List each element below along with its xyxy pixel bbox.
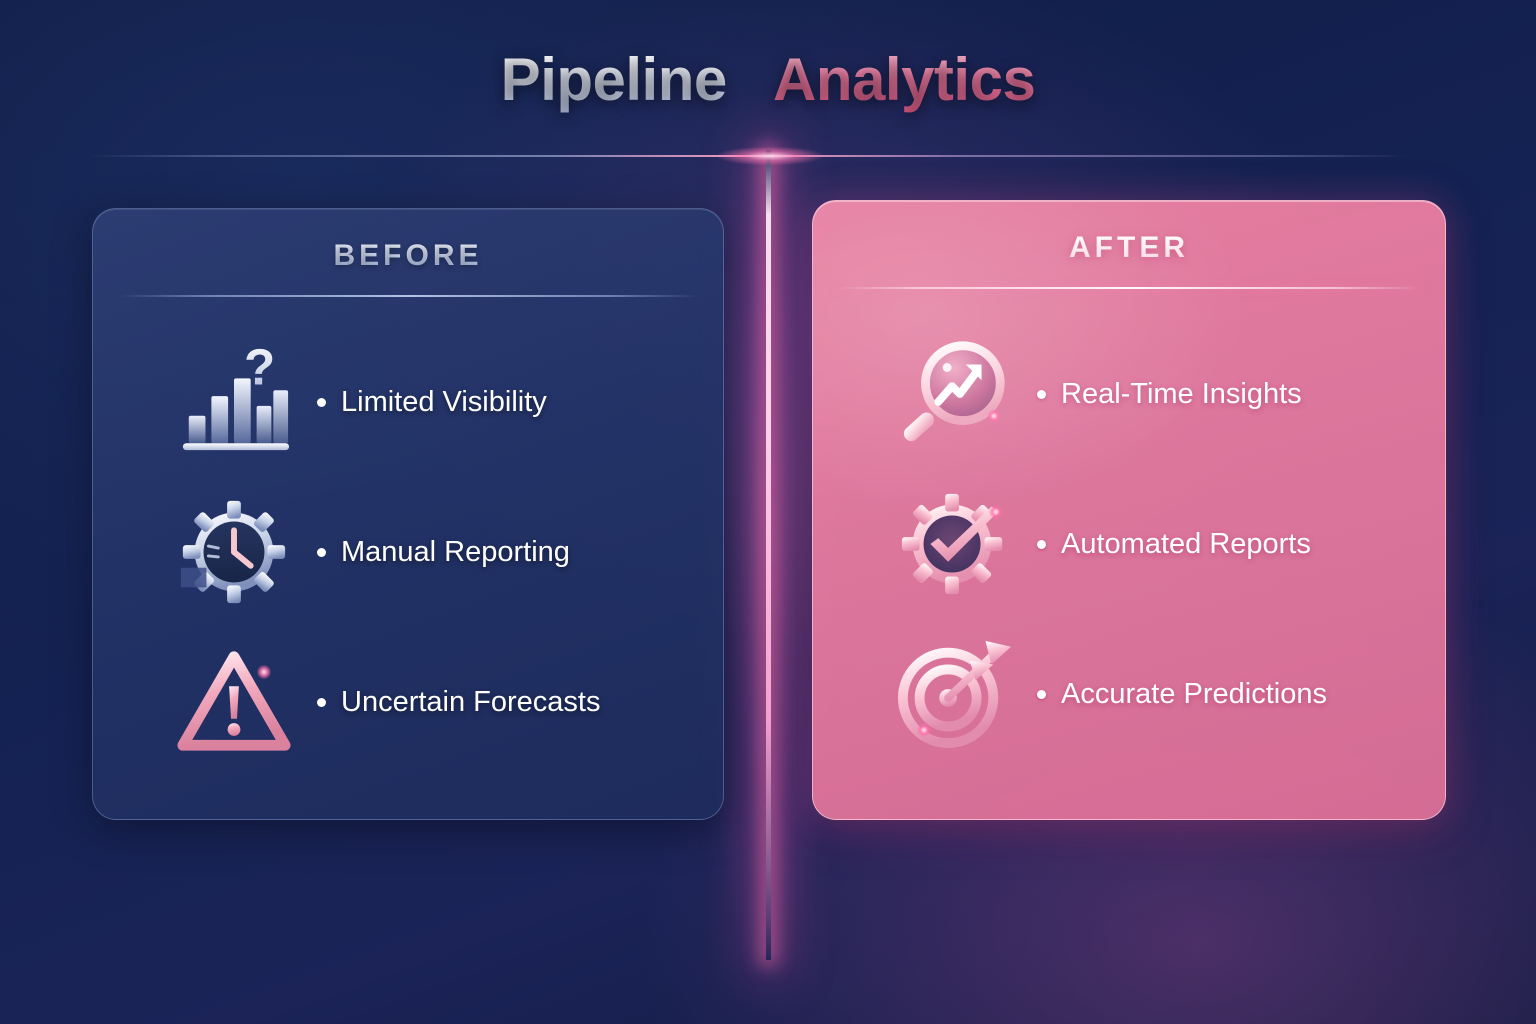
center-divider-beam [766, 150, 771, 960]
panel-after: AFTER [812, 200, 1446, 820]
list-item-label: Limited Visibility [341, 386, 547, 419]
slide-canvas: Pipeline Analytics BEFORE [0, 0, 1536, 1024]
list-item-text: Manual Reporting [317, 536, 570, 569]
svg-text:?: ? [244, 343, 275, 395]
list-item[interactable]: Automated Reports [813, 469, 1445, 619]
list-item-label: Uncertain Forecasts [341, 686, 601, 719]
bullet-icon [317, 398, 326, 407]
list-item-label: Automated Reports [1061, 528, 1311, 561]
list-item-text: Automated Reports [1037, 528, 1311, 561]
bullet-icon [317, 548, 326, 557]
page-title: Pipeline Analytics [0, 48, 1536, 111]
panel-after-separator [839, 287, 1419, 289]
list-item[interactable]: Manual Reporting [93, 477, 723, 627]
bullet-icon [1037, 540, 1046, 549]
list-item-label: Accurate Predictions [1061, 678, 1327, 711]
list-item[interactable]: Uncertain Forecasts [93, 627, 723, 777]
panel-after-heading: AFTER [813, 231, 1445, 265]
panel-before-list: ? Limited Visibility [93, 327, 723, 777]
list-item-label: Manual Reporting [341, 536, 570, 569]
panel-before-heading: BEFORE [93, 239, 723, 273]
title-space [743, 46, 759, 113]
list-item[interactable]: Accurate Predictions [813, 619, 1445, 769]
list-item-text: Limited Visibility [317, 386, 547, 419]
list-item[interactable]: ? Limited Visibility [93, 327, 723, 477]
panel-after-list: Real-Time Insights [813, 319, 1445, 769]
list-item-text: Accurate Predictions [1037, 678, 1327, 711]
bullet-icon [317, 698, 326, 707]
bullet-icon [1037, 690, 1046, 699]
list-item[interactable]: Real-Time Insights [813, 319, 1445, 469]
title-word-primary: Pipeline [501, 46, 727, 113]
list-item-text: Real-Time Insights [1037, 378, 1302, 411]
panel-before-separator [119, 295, 699, 297]
title-word-accent: Analytics [773, 46, 1035, 113]
header-glow-spark-icon [718, 147, 822, 165]
panel-before: BEFORE [92, 208, 724, 820]
magnifier-trend-icon [891, 331, 1017, 457]
list-item-text: Uncertain Forecasts [317, 686, 601, 719]
warning-triangle-icon [171, 639, 297, 765]
list-item-label: Real-Time Insights [1061, 378, 1302, 411]
target-arrow-icon [891, 631, 1017, 757]
gear-clock-icon [171, 489, 297, 615]
bar-chart-question-icon: ? [171, 339, 297, 465]
bullet-icon [1037, 390, 1046, 399]
gear-check-icon [891, 481, 1017, 607]
